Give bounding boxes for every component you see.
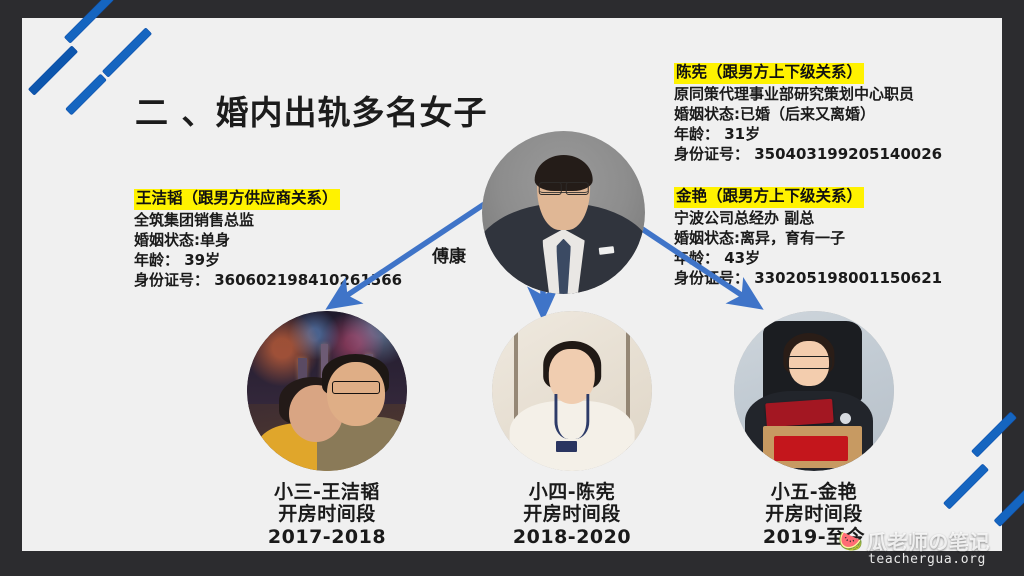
info-block-jin: 金艳（跟男方上下级关系） 宁波公司总经办 副总 婚姻状态:离异，育有一子 年龄：… [674,186,942,289]
info-line-chen-role: 原同策代理事业部研究策划中心职员 [674,85,942,104]
caption-2-line-2: 开房时间段 [462,503,682,525]
info-block-wang: 王洁韬（跟男方供应商关系） 全筑集团销售总监 婚姻状态:单身 年龄： 39岁 身… [134,188,402,291]
info-line-chen-marital: 婚姻状态:已婚（后来又离婚） [674,105,942,124]
photo-center-image [482,131,645,294]
info-line-chen-id: 身份证号： 350403199205140026 [674,145,942,164]
info-line-wang-age: 年龄： 39岁 [134,251,402,270]
photo-1-image [247,311,407,471]
stripe [65,74,107,116]
info-line-chen-age: 年龄： 31岁 [674,125,942,144]
red-gift-contents-shape [774,436,848,462]
caption-1-line-2: 开房时间段 [217,503,437,525]
info-line-jin-role: 宁波公司总经办 副总 [674,209,942,228]
caption-1-line-3: 2017-2018 [217,526,437,548]
caption-2-line-1: 小四-陈宪 [462,481,682,503]
blouse-pattern-dot [840,413,851,424]
photo-3-image [734,311,894,471]
decoration-stripes-top-left [16,8,156,128]
watermark: 🍉 瓜老师の笔记 [838,526,990,555]
watermark-text: 瓜老师の笔记 [867,526,990,555]
photo-2-image [492,311,652,471]
info-line-jin-age: 年龄： 43岁 [674,249,942,268]
red-card-shape [765,398,834,427]
caption-mistress-chen: 小四-陈宪 开房时间段 2018-2020 [462,481,682,548]
photo-mistress-wang [247,311,407,471]
caption-3-line-1: 小五-金艳 [704,481,924,503]
caption-1-line-1: 小三-王洁韬 [217,481,437,503]
info-line-wang-marital: 婚姻状态:单身 [134,231,402,250]
photo-mistress-jin [734,311,894,471]
glasses-shape [787,356,832,369]
watermelon-icon: 🍉 [838,531,863,551]
badge-shape [556,441,577,452]
info-block-chen: 陈宪（跟男方上下级关系） 原同策代理事业部研究策划中心职员 婚姻状态:已婚（后来… [674,62,942,165]
stripe [64,0,114,44]
page-title: 二 、婚内出轨多名女子 [135,86,488,134]
slide-frame: 二 、婚内出轨多名女子 王洁韬（跟男方供应商关系） 全筑集团销售总监 婚姻状态:… [0,0,1024,576]
info-name-chen: 陈宪（跟男方上下级关系） [674,63,864,84]
info-line-wang-id: 身份证号： 360602198410261566 [134,271,402,290]
caption-2-line-3: 2018-2020 [462,526,682,548]
info-line-jin-marital: 婚姻状态:离异，育有一子 [674,229,942,248]
photo-mistress-chen [492,311,652,471]
info-line-wang-role: 全筑集团销售总监 [134,211,402,230]
caption-mistress-wang: 小三-王洁韬 开房时间段 2017-2018 [217,481,437,548]
stripe [28,45,78,95]
man-face-shape [327,362,385,426]
glasses-shape [332,381,380,394]
stripe [102,27,152,77]
glasses-shape [538,182,589,193]
slide-canvas: 二 、婚内出轨多名女子 王洁韬（跟男方供应商关系） 全筑集团销售总监 婚姻状态:… [22,18,1002,551]
watermark-url: teachergua.org [868,552,986,567]
center-person-label: 傅康 [432,242,466,267]
stripe [994,478,1024,527]
photo-center-fukang [482,131,645,294]
info-line-jin-id: 身份证号： 330205198001150621 [674,269,942,288]
lanyard-shape [554,394,589,439]
info-name-wang: 王洁韬（跟男方供应商关系） [134,189,340,210]
info-name-jin: 金艳（跟男方上下级关系） [674,187,864,208]
caption-3-line-2: 开房时间段 [704,503,924,525]
